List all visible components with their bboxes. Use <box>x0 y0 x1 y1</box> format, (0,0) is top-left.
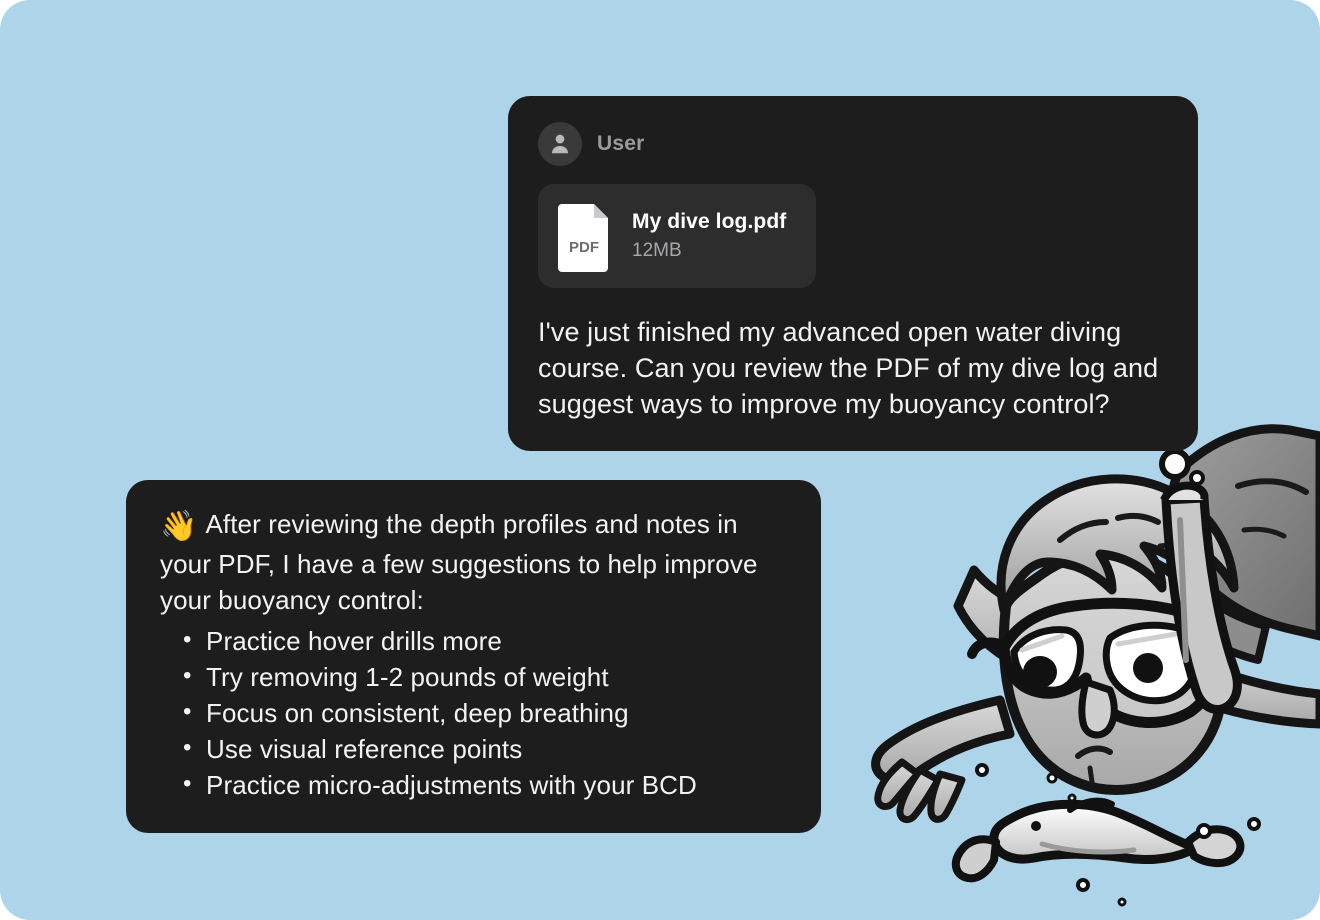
assistant-message-bubble: 👋After reviewing the depth profiles and … <box>126 480 821 833</box>
user-avatar-icon <box>538 122 582 166</box>
list-item: Practice hover drills more <box>206 623 791 659</box>
pdf-attachment-card[interactable]: PDF My dive log.pdf 12MB <box>538 184 816 288</box>
pdf-file-name: My dive log.pdf <box>632 210 786 234</box>
suggestion-list: Practice hover drills more Try removing … <box>160 623 791 803</box>
list-item: Use visual reference points <box>206 731 791 767</box>
user-message-header: User <box>538 122 1168 166</box>
list-item: Focus on consistent, deep breathing <box>206 695 791 731</box>
diver-figure <box>876 429 1320 820</box>
pdf-attachment-meta: My dive log.pdf 12MB <box>632 210 786 262</box>
pdf-file-size: 12MB <box>632 240 786 262</box>
list-item: Practice micro-adjustments with your BCD <box>206 767 791 803</box>
user-message-bubble: User PDF My dive log.pdf 12MB I've just … <box>508 96 1198 451</box>
conversation-screen: User PDF My dive log.pdf 12MB I've just … <box>0 0 1320 920</box>
user-message-text: I've just finished my advanced open wate… <box>538 314 1168 423</box>
list-item: Try removing 1-2 pounds of weight <box>206 659 791 695</box>
fish <box>956 801 1241 879</box>
pdf-file-icon: PDF <box>556 200 614 272</box>
waving-hand-icon: 👋 <box>160 510 197 543</box>
svg-text:PDF: PDF <box>569 239 599 256</box>
user-name-label: User <box>597 132 645 156</box>
bubbles <box>977 390 1259 905</box>
assistant-intro-copy: After reviewing the depth profiles and n… <box>160 509 758 615</box>
assistant-intro-text: 👋After reviewing the depth profiles and … <box>160 506 791 619</box>
